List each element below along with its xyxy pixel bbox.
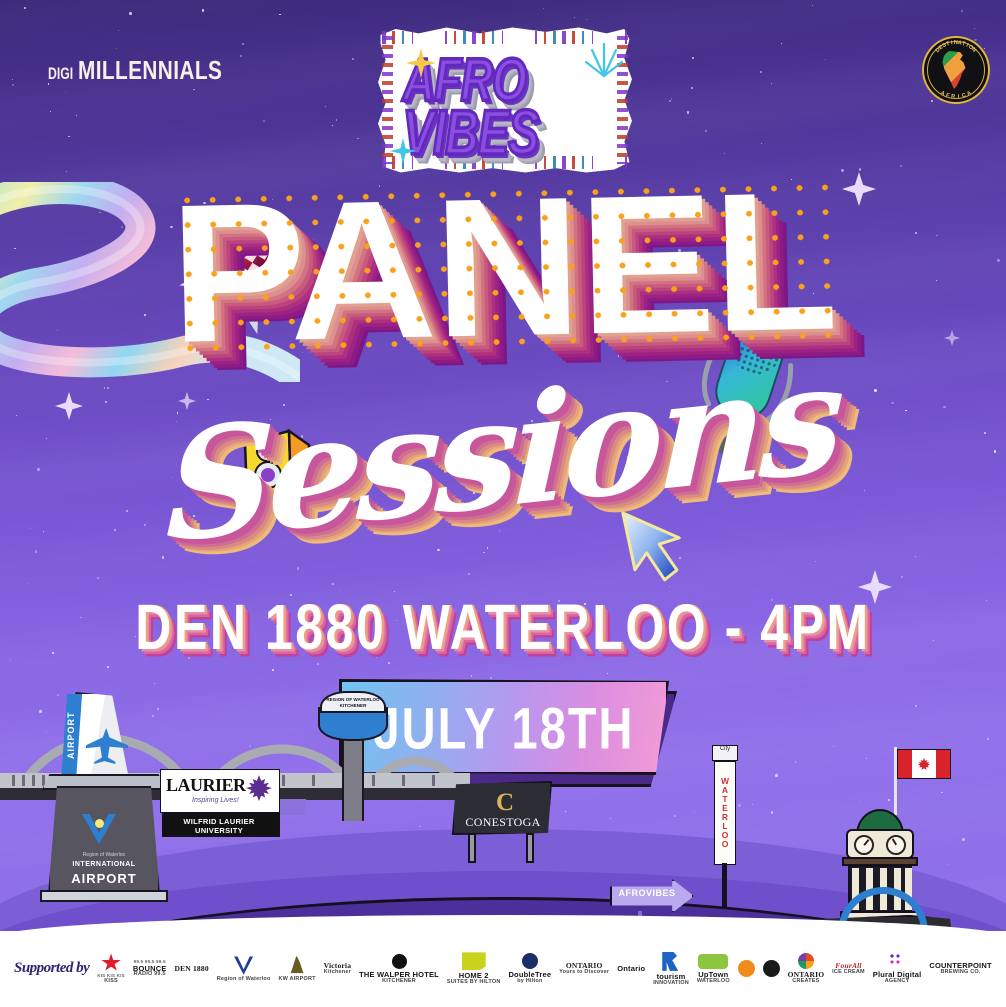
sponsor-logo: Plural DigitalAGENCY — [873, 953, 922, 984]
airport-vertical-label: AIRPORT — [62, 696, 80, 774]
star-dot — [627, 456, 628, 457]
digimillennials-logo: DIGIMILLENNIALS — [48, 55, 258, 86]
star-dot — [30, 528, 31, 529]
star-dot — [962, 838, 965, 841]
star-dot — [423, 912, 426, 915]
sponsor-logo: UpTownWATERLOO — [697, 954, 730, 984]
star-dot — [531, 275, 533, 277]
star-dot — [669, 586, 670, 587]
home2-icon — [462, 952, 486, 970]
sponsor-intro: Supported by — [14, 961, 89, 976]
arrow-cursor-icon — [614, 497, 696, 591]
canada-flag-icon — [897, 749, 951, 779]
star-dot — [833, 746, 834, 747]
badge-char: F — [945, 92, 950, 99]
star-dot — [678, 249, 680, 251]
star-dot — [207, 399, 208, 400]
waterloo-sign-letter: T — [722, 795, 727, 804]
star-dot — [114, 529, 116, 531]
star-dot — [171, 477, 172, 478]
waterloo-sign-letter: W — [721, 777, 729, 786]
sessions-script-wrap: Sessions — [0, 378, 1006, 528]
star-dot — [35, 550, 37, 552]
star-dot — [738, 804, 740, 806]
star-dot — [747, 473, 748, 474]
rh-icon — [661, 952, 681, 971]
star-dot — [144, 524, 146, 526]
star-dot — [792, 878, 794, 880]
star-dot — [724, 153, 726, 155]
star-dot — [666, 381, 668, 383]
star-dot — [752, 804, 753, 805]
star-dot — [118, 30, 119, 31]
star-dot — [68, 136, 70, 138]
star-dot — [692, 57, 694, 59]
star-dot — [936, 280, 937, 281]
brand-prefix: DIGI — [48, 64, 73, 84]
star-dot — [480, 858, 482, 860]
sponsor-sub: KISS — [104, 979, 118, 985]
star-dot — [447, 506, 449, 508]
sponsor-name: Ontario — [617, 965, 645, 973]
kw-icon — [289, 956, 306, 975]
star-dot — [152, 715, 154, 717]
star-dot — [242, 43, 244, 45]
star-dot — [760, 71, 762, 73]
star-dot — [795, 761, 796, 762]
star-dot — [864, 490, 865, 491]
waterloo-airport-monument: AIRPORT Region of Waterloo INTERNATIONAL… — [34, 697, 174, 902]
star-dot — [815, 561, 816, 562]
star-dot — [667, 319, 669, 321]
sponsor-sub: by Hilton — [517, 979, 542, 985]
sponsor-logo: HOME 2SUITES BY HILTON — [447, 952, 501, 985]
star-dot — [176, 421, 177, 422]
sponsor-logo: DEN 1880 — [174, 965, 208, 973]
flag-band-right — [936, 750, 950, 778]
flag-band-left — [898, 750, 912, 778]
sponsor-bar: Supported by KIS KIS KISKISS99.5 99.5 99… — [0, 931, 1006, 1007]
star-dot — [162, 556, 164, 558]
star-dot — [635, 848, 637, 850]
star-dot — [231, 474, 232, 475]
walper-icon — [392, 954, 407, 969]
star-dot — [947, 864, 948, 865]
star-dot — [107, 666, 109, 668]
star-dot — [705, 130, 707, 132]
star-dot — [547, 888, 548, 889]
star-dot — [481, 263, 482, 264]
sponsor-sub: RADIO 99.5 — [134, 972, 166, 978]
star-dot — [739, 474, 741, 476]
star-dot — [858, 855, 860, 857]
star-dot — [336, 119, 338, 121]
star-dot — [825, 59, 826, 60]
waterloo-sign-header: City — [712, 745, 738, 761]
star-dot — [761, 143, 762, 144]
sponsor-logo: VictoriaKitchener — [324, 962, 352, 975]
badge-char: I — [958, 94, 961, 100]
date-badge-label: JULY 18TH — [339, 667, 669, 787]
airport-cap — [42, 774, 166, 790]
star-dot — [618, 355, 619, 356]
waterloo-icon — [234, 956, 253, 975]
star-dot — [997, 259, 999, 261]
speaker-icon — [239, 425, 315, 497]
star-dot — [116, 48, 117, 49]
star-dot — [936, 235, 938, 237]
star-dot — [455, 239, 456, 240]
orange-icon — [738, 960, 755, 977]
sponsor-sub: KW AIRPORT — [278, 977, 315, 983]
star-dot — [517, 446, 518, 447]
plural-icon — [889, 953, 905, 969]
sparkle-icon — [178, 392, 196, 410]
star-dot — [404, 835, 406, 837]
sponsor-logo: DoubleTreeby Hilton — [508, 953, 551, 984]
sponsor-logo: ONTARIOCREATES — [788, 953, 825, 984]
tower-belt — [842, 857, 918, 866]
star-dot — [582, 859, 585, 862]
star-dot — [499, 530, 501, 532]
star-dot — [50, 111, 51, 112]
star-dot — [12, 79, 13, 80]
star-dot — [297, 567, 300, 570]
star-dot — [263, 120, 265, 122]
destination-africa-badge[interactable]: DESTINATION AFRICA — [922, 36, 990, 104]
star-dot — [54, 794, 55, 795]
sponsor-logo: KIS KIS KISKISS — [97, 953, 125, 984]
star-dot — [888, 799, 890, 801]
star-dot — [812, 5, 813, 6]
star-dot — [379, 185, 381, 187]
star-dot — [974, 28, 975, 29]
arrow-shape — [610, 879, 694, 913]
waterloo-sign-letter: E — [722, 804, 728, 813]
sponsor-logo: KW AIRPORT — [278, 956, 315, 983]
airport-region-label: Region of Waterloo — [48, 852, 160, 858]
star-dot — [77, 720, 78, 721]
star-dot — [16, 415, 17, 416]
airport-base — [40, 890, 168, 902]
star-dot — [586, 19, 587, 20]
star-dot — [507, 433, 509, 435]
airport-intl-label: INTERNATIONAL — [48, 861, 160, 868]
star-dot — [24, 7, 26, 9]
star-dot — [136, 743, 137, 744]
star-dot — [362, 856, 365, 859]
star-dot — [841, 169, 843, 171]
sparkle-burst-icon — [390, 138, 416, 164]
star-dot — [332, 125, 333, 126]
star-dot — [202, 9, 204, 11]
doubletree-icon — [522, 953, 538, 969]
star-dot — [185, 916, 188, 919]
star-dot — [334, 503, 335, 504]
sparkle-burst-icon — [406, 48, 436, 78]
date-badge[interactable]: JULY 18TH — [339, 679, 669, 775]
star-dot — [781, 43, 782, 44]
star-dot — [249, 745, 251, 747]
star-dot — [419, 826, 420, 827]
waterloo-sign-pole — [722, 863, 727, 913]
star-dot — [531, 420, 533, 422]
sponsor-sub: CREATES — [792, 979, 819, 985]
star-dot — [527, 493, 529, 495]
conestoga-mark: C — [496, 789, 514, 817]
badge-char: R — [951, 94, 956, 100]
star-dot — [905, 410, 906, 411]
star-dot — [687, 111, 689, 113]
star-dot — [190, 779, 192, 781]
star-dot — [126, 510, 128, 512]
star-dot — [311, 852, 312, 853]
waterloo-sign-letter: A — [722, 786, 728, 795]
laurier-name: LAURIER — [166, 775, 246, 796]
star-dot — [279, 14, 280, 15]
star-dot — [299, 808, 302, 811]
star-dot — [100, 697, 101, 698]
star-dot — [866, 758, 867, 759]
star-dot — [750, 879, 752, 881]
sponsor-logo: Region of Waterloo — [217, 956, 271, 983]
sparkle-burst-icon — [584, 38, 624, 78]
sponsor-logo: COUNTERPOINTBREWING CO. — [929, 962, 991, 975]
sponsor-logo: FourAllICE CREAM — [832, 962, 865, 975]
sponsor-sub: WATERLOO — [697, 979, 730, 985]
star-dot — [306, 839, 308, 841]
star-dot — [468, 573, 470, 575]
star-dot — [505, 905, 507, 907]
laurier-sign-bottom — [162, 813, 280, 837]
star-dot — [305, 504, 308, 507]
tower-colonnade — [848, 865, 912, 913]
afrovibes-logo: AFRO VIBES — [378, 26, 632, 174]
star-dot — [492, 898, 495, 901]
star-dot — [337, 468, 338, 469]
star-dot — [107, 387, 109, 389]
sponsor-intro-label: Supported by — [14, 961, 89, 976]
star-dot — [718, 893, 720, 895]
star-dot — [791, 179, 792, 180]
star-dot — [674, 815, 676, 817]
star-dot — [426, 473, 427, 474]
star-dot — [437, 549, 439, 551]
conestoga-leg-right — [526, 833, 534, 863]
star-dot — [11, 914, 12, 915]
star-dot — [942, 899, 944, 901]
star-dot — [859, 801, 860, 802]
sponsor-logo — [763, 960, 780, 979]
star-dot — [865, 894, 866, 895]
sponsor-sub: SUITES BY HILTON — [447, 980, 501, 986]
star-dot — [874, 389, 876, 391]
sponsor-sub: Yours to Discover — [559, 970, 609, 976]
star-dot — [352, 58, 354, 60]
laurier-sign-top — [160, 769, 280, 813]
conestoga-board — [452, 781, 552, 835]
star-dot — [39, 710, 41, 712]
star-dot — [294, 787, 296, 789]
conestoga-name: CONESTOGA — [456, 815, 550, 830]
waterloo-sign-letter: O — [722, 831, 729, 840]
star-dot — [157, 708, 159, 710]
waterloo-sign-letters: WATERLOO — [714, 761, 736, 865]
region-waterloo-logo-dot — [95, 819, 104, 828]
waterloo-sign-letter: L — [722, 822, 727, 831]
star-dot — [771, 83, 772, 84]
star-dot — [481, 821, 483, 823]
star-dot — [317, 497, 318, 498]
star-dot — [600, 308, 602, 310]
sponsor-logo — [738, 960, 755, 979]
star-dot — [283, 404, 285, 406]
star-dot — [158, 894, 159, 895]
star-dot — [775, 774, 778, 777]
star-dot — [41, 924, 44, 927]
star-dot — [487, 547, 489, 549]
star-dot — [566, 289, 567, 290]
star-dot — [992, 925, 993, 926]
star-dot — [941, 792, 943, 794]
star-dot — [669, 100, 671, 102]
sparkle-icon — [55, 392, 83, 420]
badge-char: A — [966, 90, 973, 97]
clock-band — [846, 829, 914, 859]
sponsor-sub: INNOVATION — [653, 981, 689, 987]
star-dot — [27, 583, 28, 584]
logo-line-vibes: VIBES — [403, 95, 539, 170]
kitchener-clock-tower — [818, 747, 938, 927]
waterloo-sign-letter: O — [722, 840, 729, 849]
star-dot — [473, 492, 475, 494]
star-dot — [76, 115, 77, 116]
star-dot — [154, 683, 155, 684]
star-dot — [554, 443, 555, 444]
venue-line: DEN 1880 WATERLOO - 4PM — [0, 592, 1006, 665]
star-dot — [386, 458, 387, 459]
star-dot — [65, 720, 66, 721]
star-dot — [12, 84, 14, 86]
dark-icon — [763, 960, 780, 977]
star-dot — [177, 412, 179, 414]
conestoga-leg-left — [468, 833, 476, 863]
star-dot — [943, 406, 945, 408]
star-dot — [812, 393, 814, 395]
star-dot — [223, 902, 225, 904]
star-dot — [994, 450, 996, 452]
star-dot — [57, 694, 59, 696]
sponsor-logo: 99.5 99.5 99.5BOUNCERADIO 99.5 — [133, 960, 167, 978]
clock-face-icon — [854, 835, 874, 855]
star-dot — [550, 897, 552, 899]
star-dot — [270, 419, 271, 420]
star-dot — [272, 669, 274, 671]
star-dot — [376, 456, 378, 458]
star-dot — [552, 493, 553, 494]
star-dot — [186, 872, 187, 873]
sparkle-icon — [944, 330, 960, 346]
tower-dome — [856, 809, 904, 835]
waterloo-vertical-sign: City WATERLOO — [712, 745, 738, 905]
star-dot — [46, 438, 47, 439]
sponsor-sub: Kitchener — [324, 970, 351, 976]
sponsor-logo: THE WALPER HOTELKITCHENER — [359, 954, 439, 984]
star-dot — [915, 232, 917, 234]
star-dot — [671, 98, 673, 100]
star-dot — [104, 387, 106, 389]
star-dot — [46, 732, 47, 733]
sponsor-sub: Region of Waterloo — [217, 977, 271, 983]
star-dot — [477, 898, 479, 900]
star-dot — [483, 552, 485, 554]
sponsor-sub: BREWING CO. — [941, 970, 981, 976]
star-dot — [260, 784, 262, 786]
star-dot — [694, 811, 695, 812]
brand-name: MILLENNIALS — [78, 55, 222, 86]
star-dot — [557, 278, 558, 279]
laurier-tagline: Inspiring Lives! — [192, 797, 239, 804]
star-dot — [915, 556, 916, 557]
star-dot — [65, 92, 66, 93]
airplane-icon — [86, 728, 128, 764]
star-dot — [736, 864, 737, 865]
afrovibes-direction-sign: AFROVIBES — [610, 879, 694, 913]
airport-fin — [62, 692, 130, 784]
laurier-university-sign: LAURIER Inspiring Lives! WILFRID LAURIER… — [160, 769, 280, 839]
star-dot — [43, 531, 44, 532]
star-dot — [691, 87, 693, 89]
badge-text-bottom: AFRICA — [922, 36, 990, 104]
star-dot — [371, 894, 373, 896]
star-dot — [900, 165, 902, 167]
maple-leaf-icon — [246, 775, 272, 801]
star-dot — [610, 818, 611, 819]
star-dot — [532, 430, 534, 432]
airport-plinth — [48, 786, 160, 896]
star-dot — [543, 422, 545, 424]
star-dot — [961, 10, 963, 12]
star-dot — [559, 213, 561, 215]
star-dot — [66, 171, 67, 172]
ontario-creates-icon — [798, 953, 814, 969]
sponsor-sub: KITCHENER — [382, 979, 416, 985]
laurier-full-name: WILFRID LAURIER UNIVERSITY — [160, 817, 278, 835]
star-dot — [193, 89, 195, 91]
tower-step — [840, 911, 920, 920]
region-waterloo-logo-icon — [82, 814, 116, 844]
airport-stripe — [61, 694, 82, 782]
star-dot — [129, 12, 131, 14]
sponsor-sub: ICE CREAM — [832, 970, 865, 976]
sponsor-logo: tourismINNOVATION — [653, 952, 689, 986]
waterloo-sign-letter: R — [722, 813, 728, 822]
sponsor-list: Supported by KIS KIS KISKISS99.5 99.5 99… — [0, 931, 1006, 1007]
microphone-icon — [676, 284, 820, 475]
conestoga-college-sign: C CONESTOGA — [452, 781, 552, 863]
star-icon — [101, 953, 121, 972]
star-dot — [741, 248, 743, 250]
star-dot — [891, 402, 893, 404]
sparkle-icon — [842, 172, 876, 206]
star-dot — [667, 476, 669, 478]
poster-canvas: DIGIMILLENNIALS AFRO VIBES DESTINATION A… — [0, 0, 1006, 1007]
star-dot — [302, 352, 303, 353]
star-dot — [543, 8, 544, 9]
star-dot — [459, 879, 461, 881]
star-dot — [411, 849, 413, 851]
star-dot — [325, 106, 326, 107]
